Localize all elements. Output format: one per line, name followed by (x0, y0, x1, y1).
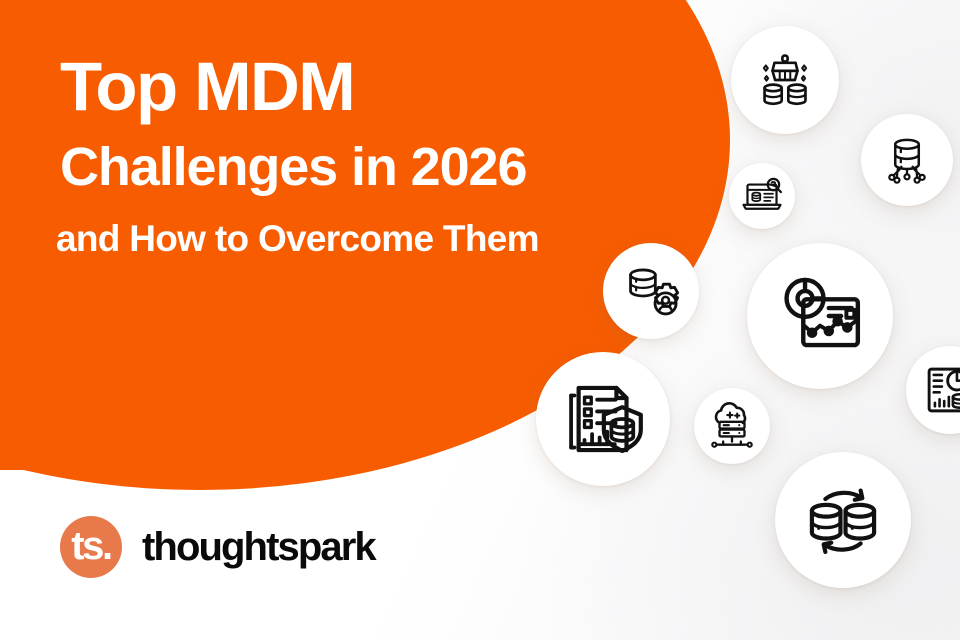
poster-canvas: Top MDM Challenges in 2026 and How to Ov… (0, 0, 960, 640)
data-report-icon (929, 369, 960, 411)
icon-bubble-master-data-admin (603, 243, 699, 339)
icon-bubble-analytics-dashboard (747, 243, 893, 389)
thoughtspark-logo[interactable]: ts. thoughtspark (60, 516, 375, 578)
database-user-gear-icon (631, 270, 678, 314)
headline-line-2: Challenges in 2026 (60, 140, 680, 194)
headline-block: Top MDM Challenges in 2026 and How to Ov… (60, 52, 680, 257)
laptop-data-search-icon (744, 179, 781, 209)
databases-sync-icon (812, 491, 874, 552)
database-network-icon (889, 140, 924, 183)
icon-bubble-database-network (861, 114, 953, 206)
broom-databases-icon (764, 56, 806, 104)
logo-wordmark: thoughtspark (142, 527, 375, 567)
icon-bubble-laptop-data-analysis (729, 163, 795, 229)
headline-line-1: Top MDM (60, 52, 680, 121)
logo-mark-circle: ts. (60, 516, 122, 578)
icon-bubble-cloud-server (694, 388, 770, 464)
cloud-server-icon (712, 403, 752, 446)
logo-mark-text: ts. (60, 526, 122, 566)
document-shield-data-icon (571, 388, 641, 451)
icon-bubble-data-sync (775, 452, 911, 588)
icon-bubble-data-cleaning (731, 26, 839, 134)
headline-line-3: and How to Overcome Them (56, 220, 680, 257)
icon-bubble-data-report (906, 346, 960, 434)
icon-bubble-data-governance (536, 352, 670, 486)
analytics-dashboard-icon (787, 280, 858, 345)
